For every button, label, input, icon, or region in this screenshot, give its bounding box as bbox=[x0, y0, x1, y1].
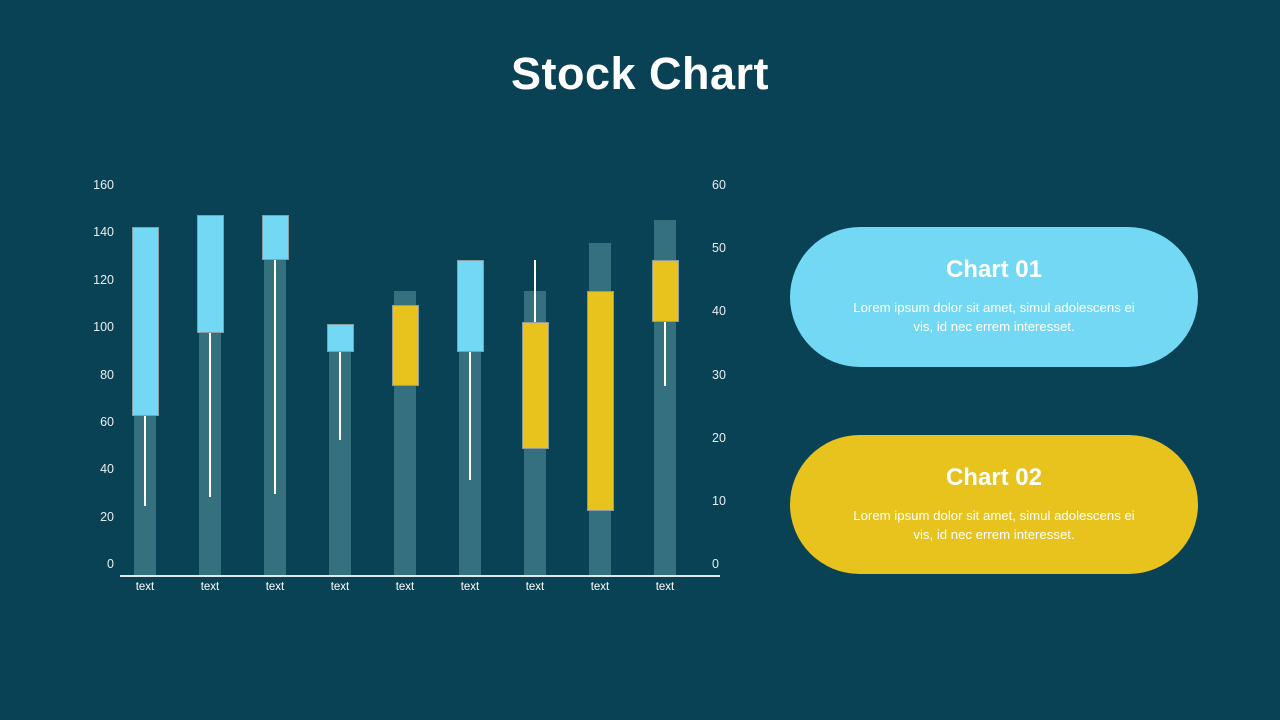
right-axis-tick: 10 bbox=[712, 495, 726, 507]
right-axis-tick: 30 bbox=[712, 369, 726, 381]
card-title: Chart 01 bbox=[946, 256, 1042, 284]
x-axis-tick-label: text bbox=[652, 581, 679, 593]
left-axis-tick: 20 bbox=[100, 511, 114, 523]
candle-body bbox=[652, 260, 679, 322]
candle-wick bbox=[209, 333, 211, 496]
x-axis-tick-label: text bbox=[327, 581, 354, 593]
slide-canvas: Stock Chart 020406080100120140160 010203… bbox=[0, 0, 1280, 720]
x-axis-tick-label: text bbox=[197, 581, 224, 593]
candle-wick bbox=[274, 260, 276, 495]
card-title: Chart 02 bbox=[946, 464, 1042, 492]
candle-body bbox=[197, 215, 224, 333]
candle-body bbox=[522, 322, 549, 450]
candle-body bbox=[587, 291, 614, 511]
candlestick-bar[interactable]: text bbox=[392, 196, 419, 575]
candlestick-bar[interactable]: text bbox=[587, 196, 614, 575]
right-axis-tick: 20 bbox=[712, 432, 726, 444]
right-axis-tick: 0 bbox=[712, 558, 719, 570]
left-axis-tick: 0 bbox=[107, 558, 114, 570]
candle-body bbox=[132, 227, 159, 417]
right-axis-tick: 40 bbox=[712, 305, 726, 317]
candlestick-bar[interactable]: text bbox=[132, 196, 159, 575]
card-body: Lorem ipsum dolor sit amet, simul adoles… bbox=[850, 298, 1138, 336]
page-title: Stock Chart bbox=[0, 44, 1280, 104]
candle-wick bbox=[534, 260, 536, 322]
candlestick-bar[interactable]: text bbox=[457, 196, 484, 575]
right-axis: 0102030405060 bbox=[712, 196, 752, 576]
x-axis-tick-label: text bbox=[522, 581, 549, 593]
candle-body bbox=[457, 260, 484, 352]
candle-wick bbox=[664, 322, 666, 386]
card-body: Lorem ipsum dolor sit amet, simul adoles… bbox=[850, 506, 1138, 544]
plot-area: texttexttexttexttexttexttexttexttext bbox=[126, 196, 706, 576]
right-axis-tick: 60 bbox=[712, 179, 726, 191]
left-axis-tick: 60 bbox=[100, 416, 114, 428]
stock-chart: 020406080100120140160 0102030405060 text… bbox=[80, 196, 740, 606]
left-axis-tick: 100 bbox=[93, 321, 114, 333]
candle-wick bbox=[339, 352, 341, 440]
left-axis: 020406080100120140160 bbox=[80, 196, 114, 576]
x-axis-tick-label: text bbox=[132, 581, 159, 593]
candle-body bbox=[392, 305, 419, 386]
right-axis-tick: 50 bbox=[712, 242, 726, 254]
card-chart-02[interactable]: Chart 02 Lorem ipsum dolor sit amet, sim… bbox=[790, 435, 1198, 574]
candle-wick bbox=[144, 416, 146, 506]
left-axis-tick: 140 bbox=[93, 226, 114, 238]
x-axis-tick-label: text bbox=[587, 581, 614, 593]
left-axis-tick: 160 bbox=[93, 179, 114, 191]
candlestick-bar[interactable]: text bbox=[197, 196, 224, 575]
candle-body bbox=[262, 215, 289, 260]
left-axis-tick: 120 bbox=[93, 274, 114, 286]
candlestick-bar[interactable]: text bbox=[327, 196, 354, 575]
x-axis-tick-label: text bbox=[457, 581, 484, 593]
x-axis-tick-label: text bbox=[262, 581, 289, 593]
axis-baseline bbox=[120, 575, 720, 577]
candlestick-bar[interactable]: text bbox=[652, 196, 679, 575]
candlestick-bar[interactable]: text bbox=[522, 196, 549, 575]
left-axis-tick: 80 bbox=[100, 369, 114, 381]
candle-wick bbox=[469, 352, 471, 480]
candle-body bbox=[327, 324, 354, 352]
left-axis-tick: 40 bbox=[100, 463, 114, 475]
candlestick-bar[interactable]: text bbox=[262, 196, 289, 575]
x-axis-tick-label: text bbox=[392, 581, 419, 593]
card-chart-01[interactable]: Chart 01 Lorem ipsum dolor sit amet, sim… bbox=[790, 227, 1198, 367]
